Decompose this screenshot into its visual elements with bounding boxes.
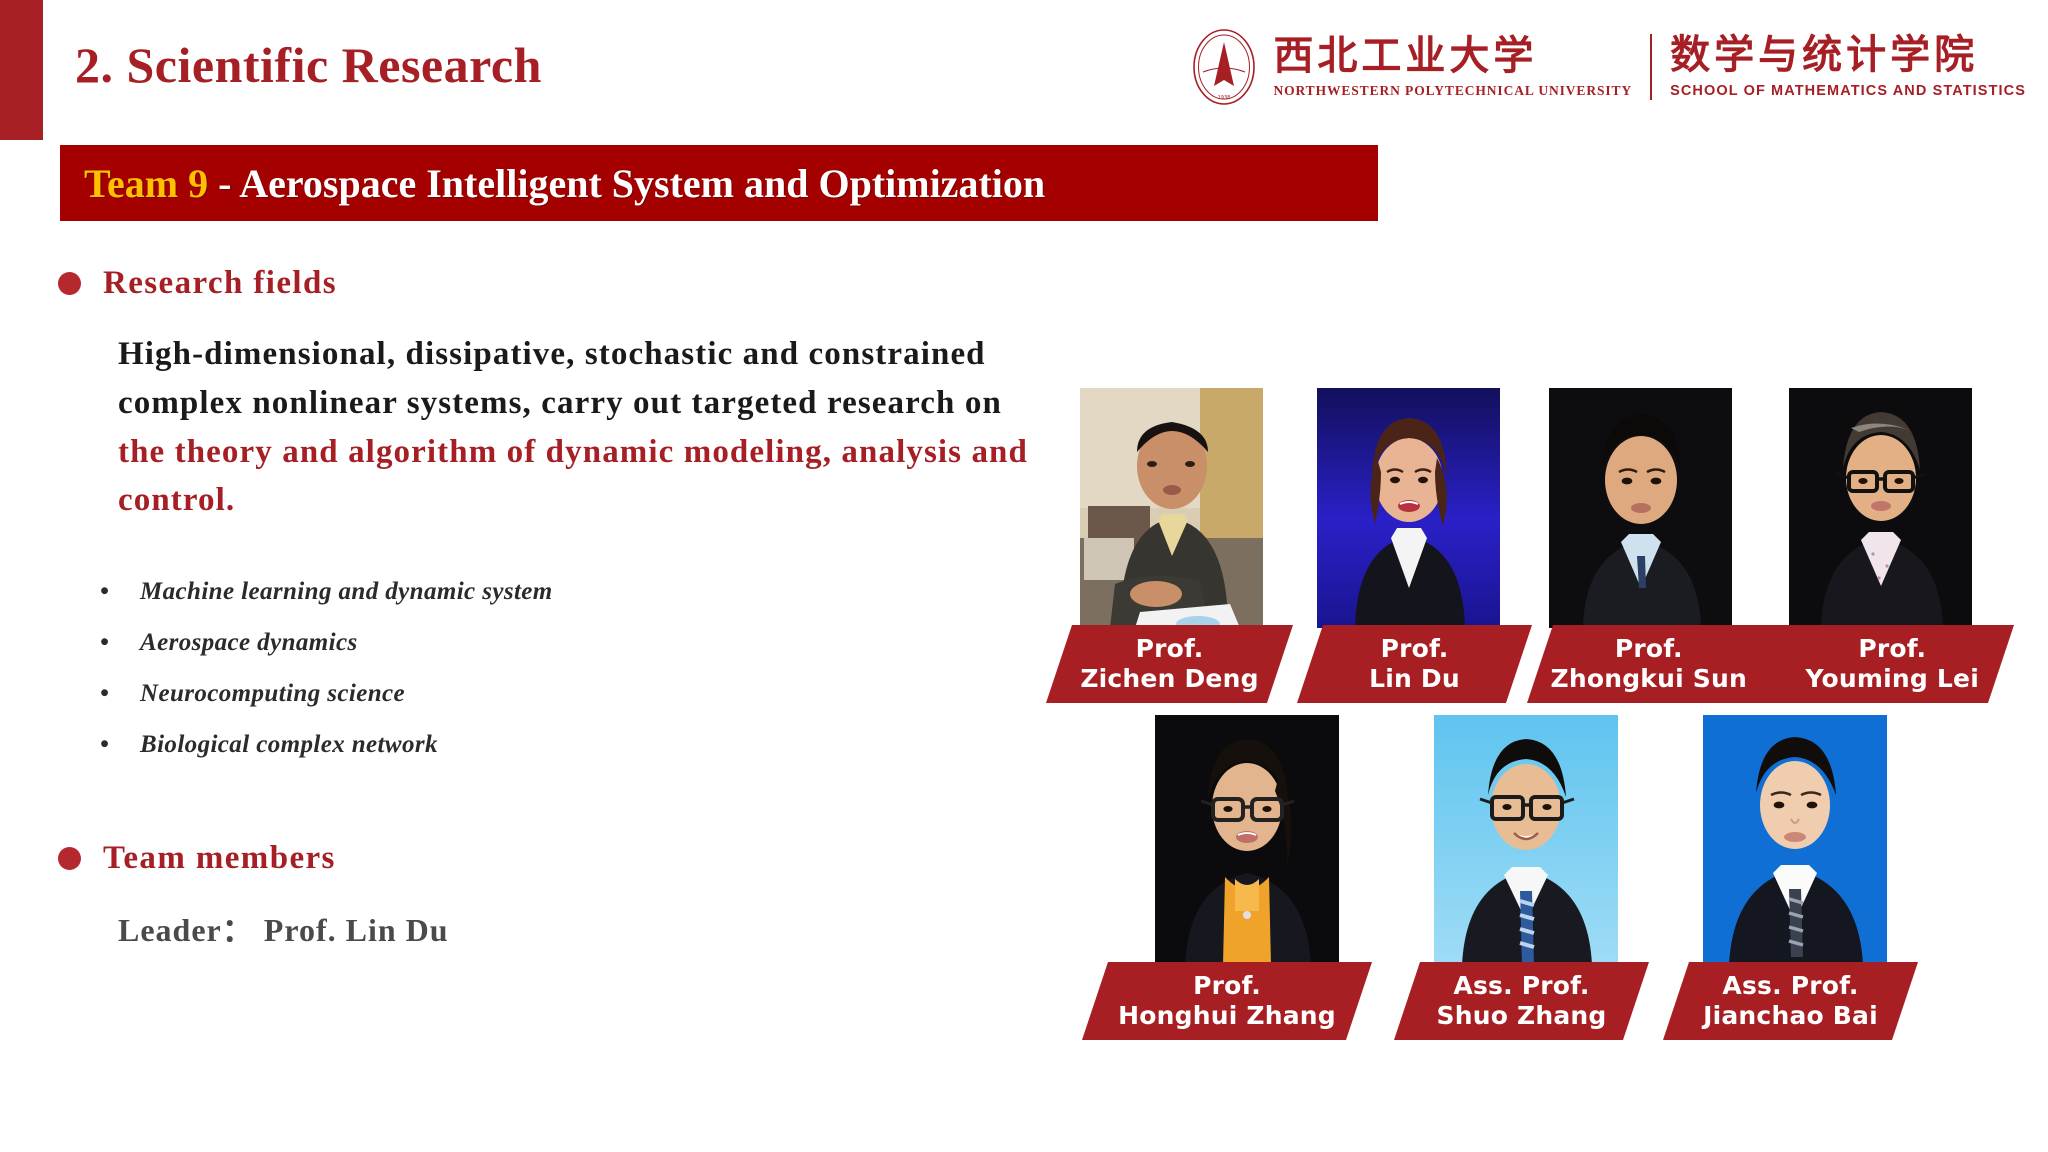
member-title: Prof. <box>1136 634 1204 665</box>
member-label-zichen-deng: Prof. Zichen Deng <box>1046 625 1293 703</box>
member-label-youming-lei: Prof. Youming Lei <box>1771 634 2015 695</box>
list-item: • Aerospace dynamics <box>100 629 860 680</box>
member-photo-zhongkui-sun <box>1549 388 1732 628</box>
list-item: • Machine learning and dynamic system <box>100 578 860 629</box>
svg-text:1938: 1938 <box>1218 95 1231 101</box>
team-banner-title: Aerospace Intelligent System and Optimiz… <box>239 161 1045 206</box>
university-name-cn: 西北工业大学 <box>1273 36 1537 76</box>
member-photo-jianchao-bai <box>1703 715 1887 965</box>
paragraph-end: . <box>226 482 235 518</box>
university-name-en: NORTHWESTERN POLYTECHNICAL UNIVERSITY <box>1273 83 1632 99</box>
member-name: Shuo Zhang <box>1437 1001 1607 1032</box>
member-name: Youming Lei <box>1806 664 1979 695</box>
logo-divider <box>1650 34 1652 100</box>
member-title: Prof. <box>1615 634 1683 665</box>
paragraph-lead: High-dimensional, dissipative, stochasti… <box>118 336 1002 421</box>
list-bullet-icon: • <box>100 732 110 757</box>
list-item-label: Machine learning and dynamic system <box>140 578 553 606</box>
member-photo-youming-lei <box>1789 388 1972 628</box>
university-name-block: 西北工业大学 NORTHWESTERN POLYTECHNICAL UNIVER… <box>1273 28 1632 106</box>
member-name: Zhongkui Sun <box>1551 664 1748 695</box>
portrait-image <box>1080 388 1263 628</box>
list-item-label: Biological complex network <box>140 731 438 759</box>
member-title: Ass. Prof. <box>1453 971 1589 1002</box>
portrait-image <box>1549 388 1732 628</box>
member-label-honghui-zhang: Prof. Honghui Zhang <box>1082 962 1372 1040</box>
research-fields-heading: Research fields <box>58 265 337 302</box>
member-title: Prof. <box>1193 971 1261 1002</box>
team-banner-text: Team 9 - Aerospace Intelligent System an… <box>84 160 1045 207</box>
team-leader-line: Leader： Prof. Lin Du <box>118 905 449 951</box>
member-name: Lin Du <box>1369 664 1460 695</box>
page-title: 2. Scientific Research <box>75 36 542 94</box>
paragraph-highlight: the theory and algorithm of dynamic mode… <box>118 434 1028 519</box>
member-label-shuo-zhang: Ass. Prof. Shuo Zhang <box>1394 962 1649 1040</box>
portrait-image <box>1317 388 1500 628</box>
member-photo-lin-du <box>1317 388 1500 628</box>
school-name-en: SCHOOL OF MATHEMATICS AND STATISTICS <box>1670 83 2026 99</box>
list-bullet-icon: • <box>100 630 110 655</box>
school-name-block: 数学与统计学院 SCHOOL OF MATHEMATICS AND STATIS… <box>1670 28 2026 106</box>
university-logo: 1938 西北工业大学 NORTHWESTERN POLYTECHNICAL U… <box>1189 22 2026 112</box>
list-item-label: Aerospace dynamics <box>140 629 358 657</box>
member-photo-honghui-zhang <box>1155 715 1339 965</box>
team-banner-dash: - <box>208 161 239 206</box>
member-photo-shuo-zhang <box>1434 715 1618 965</box>
research-fields-paragraph: High-dimensional, dissipative, stochasti… <box>118 330 1038 525</box>
slide-canvas: 2. Scientific Research 1938 西北工业大学 NORTH… <box>0 0 2048 1152</box>
team-number-label: Team 9 <box>84 161 208 206</box>
member-name: Honghui Zhang <box>1118 1001 1336 1032</box>
member-label-lin-du: Prof. Lin Du <box>1297 625 1532 703</box>
university-seal-icon: 1938 <box>1189 28 1259 106</box>
member-title: Ass. Prof. <box>1722 971 1858 1002</box>
member-title: Prof. <box>1858 634 1926 665</box>
portrait-image <box>1789 388 1972 628</box>
team-members-label: Team members <box>103 840 336 877</box>
team-banner: Team 9 - Aerospace Intelligent System an… <box>60 145 1378 221</box>
header-accent-bar <box>0 0 43 140</box>
bullet-dot-icon <box>58 847 81 870</box>
member-label-pair-sun-lei: Prof. Zhongkui Sun Prof. Youming Lei <box>1527 625 2014 703</box>
school-name-cn: 数学与统计学院 <box>1670 35 1978 75</box>
list-item: • Neurocomputing science <box>100 680 860 731</box>
list-bullet-icon: • <box>100 681 110 706</box>
member-title: Prof. <box>1381 634 1449 665</box>
team-members-heading: Team members <box>58 840 336 877</box>
leader-label: Leader： <box>118 912 255 948</box>
portrait-image <box>1155 715 1339 965</box>
list-bullet-icon: • <box>100 579 110 604</box>
member-name: Zichen Deng <box>1080 664 1258 695</box>
portrait-image <box>1703 715 1887 965</box>
member-photo-zichen-deng <box>1080 388 1263 628</box>
research-fields-label: Research fields <box>103 265 337 302</box>
portrait-image <box>1434 715 1618 965</box>
list-item: • Biological complex network <box>100 731 860 782</box>
leader-name: Prof. Lin Du <box>264 912 449 948</box>
list-item-label: Neurocomputing science <box>140 680 405 708</box>
member-label-zhongkui-sun: Prof. Zhongkui Sun <box>1527 634 1771 695</box>
member-label-jianchao-bai: Ass. Prof. Jianchao Bai <box>1663 962 1918 1040</box>
research-fields-list: • Machine learning and dynamic system • … <box>100 578 860 782</box>
member-name: Jianchao Bai <box>1703 1001 1878 1032</box>
bullet-dot-icon <box>58 272 81 295</box>
